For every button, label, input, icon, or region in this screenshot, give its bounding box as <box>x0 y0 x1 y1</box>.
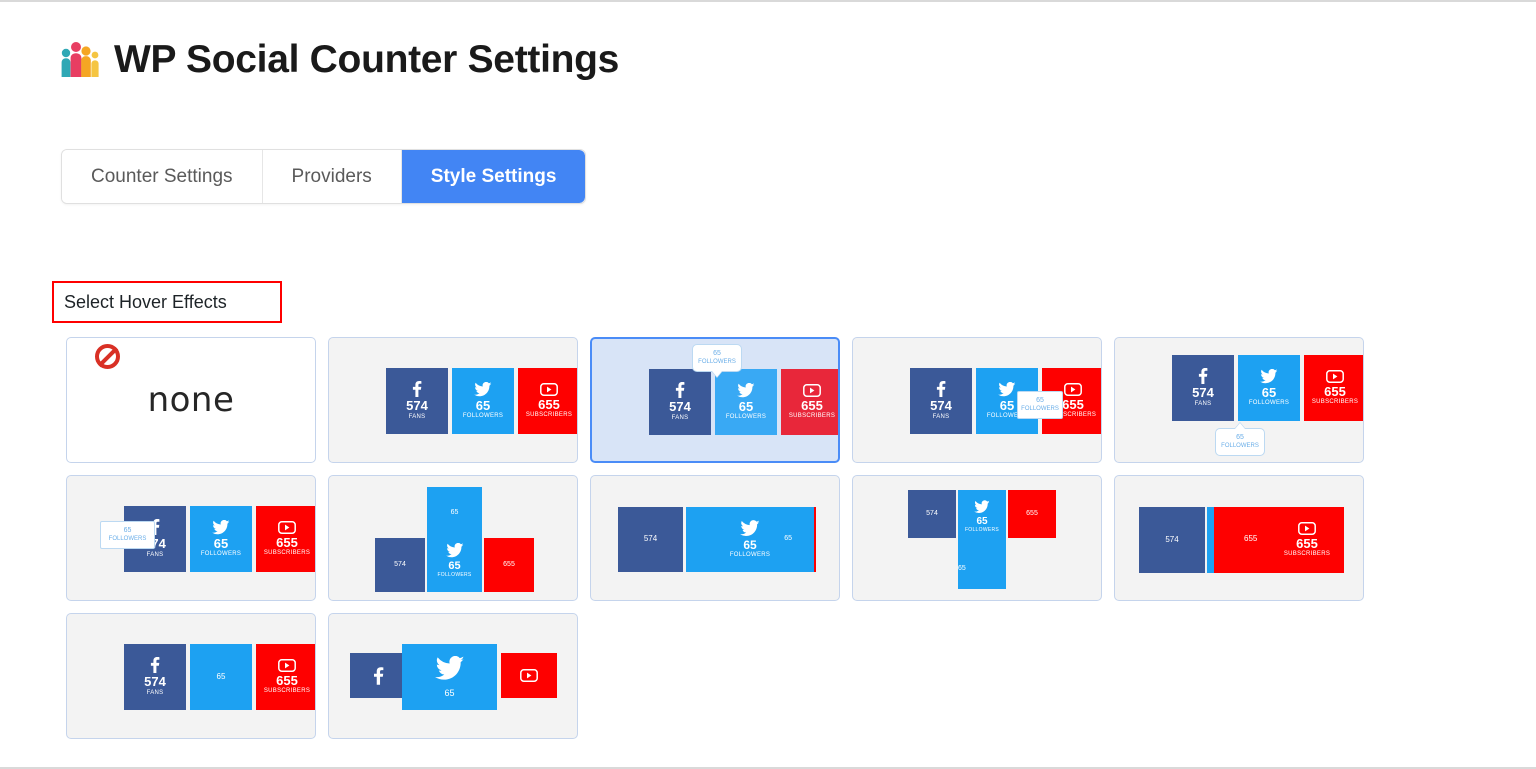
facebook-icon <box>150 657 160 673</box>
preview-stage: 574 FANS 65 FOLLOWERS 65 FOLLOWERS 655 S… <box>67 476 315 600</box>
twitter-count-bottom: 65 <box>958 565 1006 573</box>
preview-tile-twitter: 65 FOLLOWERS <box>190 506 252 572</box>
preview-stage: 574 FANS 65 655 SUBSCRIBERS <box>67 614 315 738</box>
effect-option-11[interactable]: 65 <box>328 613 578 739</box>
preview-tile-youtube: 655 SUBSCRIBERS <box>256 506 316 572</box>
preview-tile-youtube: 655 SUBSCRIBERS <box>518 368 578 434</box>
facebook-label: FANS <box>409 414 426 421</box>
facebook-icon <box>412 381 422 397</box>
tooltip-count: 65 <box>1021 396 1059 405</box>
preview-stage: 574 65 FOLLOWERS 65 655 <box>853 476 1101 600</box>
twitter-label: FOLLOWERS <box>201 551 241 558</box>
effect-option-3[interactable]: 574 FANS 65 FOLLOWERS 655 SUBSCRIBERS 65… <box>852 337 1102 463</box>
section-label: Select Hover Effects <box>64 292 227 313</box>
preview-stage: 574 65 FOLLOWERS 65 <box>591 476 839 600</box>
twitter-count: 65 <box>739 400 753 414</box>
select-hover-effects-highlight: Select Hover Effects <box>52 281 282 323</box>
twitter-icon <box>737 383 755 398</box>
twitter-count: 65 <box>1262 386 1276 400</box>
youtube-count: 655 <box>801 399 823 413</box>
youtube-label: SUBSCRIBERS <box>526 412 572 419</box>
effect-option-2[interactable]: 65 FOLLOWERS 574 FANS 65 FOLLOWERS <box>590 337 840 463</box>
youtube-count: 655 <box>1324 385 1346 399</box>
preview-tile-twitter: 65 FOLLOWERS <box>452 368 514 434</box>
twitter-count: 65 <box>976 516 987 527</box>
twitter-count-right: 65 <box>784 535 792 543</box>
tooltip-label: FOLLOWERS <box>1021 406 1059 412</box>
preview-tile-twitter: 65 65 FOLLOWERS <box>427 487 482 592</box>
effect-option-10[interactable]: 574 FANS 65 655 SUBSCRIBERS <box>66 613 316 739</box>
preview-tile-facebook: 574 FANS <box>910 368 972 434</box>
facebook-count: 574 <box>1165 536 1178 545</box>
facebook-label: FANS <box>147 690 164 697</box>
twitter-label: FOLLOWERS <box>437 572 471 578</box>
twitter-count: 65 <box>476 399 490 413</box>
twitter-count: 65 <box>743 539 756 552</box>
youtube-label: SUBSCRIBERS <box>264 550 310 557</box>
twitter-icon <box>446 543 464 558</box>
preview-tile-facebook: 574 FANS <box>1172 355 1234 421</box>
effect-option-9[interactable]: 574 655 655 SUBSCRIBERS <box>1114 475 1364 601</box>
tab-providers[interactable]: Providers <box>263 150 402 203</box>
preview-tile-youtube: 655 SUBSCRIBERS <box>781 369 840 435</box>
none-label: none <box>148 380 235 420</box>
preview-tile-youtube: 655 SUBSCRIBERS <box>256 644 316 710</box>
preview-tile-twitter: 65 FOLLOWERS <box>1238 355 1300 421</box>
twitter-label: FOLLOWERS <box>965 527 999 533</box>
hover-tooltip: 65 FOLLOWERS <box>100 521 155 549</box>
twitter-icon <box>212 520 230 535</box>
effect-option-4[interactable]: 574 FANS 65 FOLLOWERS 655 SUBSCRIBERS 65… <box>1114 337 1364 463</box>
preview-tile-youtube: 655 <box>484 538 534 592</box>
effect-option-none[interactable]: none <box>66 337 316 463</box>
tab-style-settings[interactable]: Style Settings <box>402 150 586 203</box>
preview-tile-facebook: 574 <box>618 507 683 572</box>
preview-stage: 574 655 655 SUBSCRIBERS <box>1115 476 1363 600</box>
preview-tile-twitter: 65 <box>190 644 252 710</box>
twitter-icon <box>998 382 1016 397</box>
facebook-count: 574 <box>1192 386 1214 400</box>
settings-tab-bar: Counter Settings Providers Style Setting… <box>61 149 586 204</box>
tab-counter-settings[interactable]: Counter Settings <box>62 150 263 203</box>
preview-stage: 574 FANS 65 FOLLOWERS 655 SUBSCRIBERS 65… <box>1115 338 1363 462</box>
preview-tile-facebook: 574 FANS <box>386 368 448 434</box>
preview-stage: 574 65 65 FOLLOWERS 655 <box>329 476 577 600</box>
effect-option-5[interactable]: 574 FANS 65 FOLLOWERS 65 FOLLOWERS 655 S… <box>66 475 316 601</box>
preview-stage: 574 FANS 65 FOLLOWERS 655 SUBSCRIBERS <box>329 338 577 462</box>
prohibition-icon <box>95 344 120 369</box>
preview-tile-youtube: 655 655 SUBSCRIBERS <box>1214 507 1344 573</box>
preview-tile-twitter: 65 <box>402 644 497 710</box>
facebook-label: FANS <box>1195 401 1212 408</box>
youtube-label: SUBSCRIBERS <box>264 688 310 695</box>
preview-tile-facebook: 574 <box>1139 507 1205 573</box>
twitter-icon <box>1260 369 1278 384</box>
twitter-label: FOLLOWERS <box>730 552 770 559</box>
facebook-icon <box>1198 368 1208 384</box>
twitter-count: 65 <box>444 689 454 699</box>
preview-stage: 574 FANS 65 FOLLOWERS 655 SUBSCRIBERS 65… <box>853 338 1101 462</box>
youtube-count: 655 <box>1062 398 1084 412</box>
facebook-count: 574 <box>394 561 406 569</box>
facebook-count: 574 <box>406 399 428 413</box>
twitter-count: 65 <box>448 560 460 572</box>
twitter-label: FOLLOWERS <box>726 414 766 421</box>
preview-tile-facebook: 574 FANS <box>649 369 711 435</box>
people-group-icon <box>60 41 100 79</box>
youtube-count-left: 655 <box>1244 535 1257 544</box>
youtube-count: 655 <box>1026 510 1038 518</box>
facebook-label: FANS <box>933 414 950 421</box>
facebook-count: 574 <box>644 535 657 544</box>
effect-option-1[interactable]: 574 FANS 65 FOLLOWERS 655 SUBSCRIBERS <box>328 337 578 463</box>
youtube-icon <box>1064 383 1082 396</box>
page-header: WP Social Counter Settings <box>60 40 619 79</box>
effect-option-7[interactable]: 574 65 FOLLOWERS 65 <box>590 475 840 601</box>
hover-tooltip: 65 FOLLOWERS <box>1215 428 1265 456</box>
preview-tile-facebook: 574 FANS <box>124 644 186 710</box>
youtube-count: 655 <box>503 561 515 569</box>
tooltip-count: 65 <box>1219 433 1261 442</box>
facebook-label: FANS <box>672 415 689 422</box>
preview-stage: 65 <box>329 614 577 738</box>
preview-tile-twitter: 65 FOLLOWERS <box>715 369 777 435</box>
youtube-count: 655 <box>276 674 298 688</box>
twitter-label: FOLLOWERS <box>463 413 503 420</box>
preview-tile-facebook <box>350 653 406 698</box>
facebook-count: 574 <box>144 675 166 689</box>
youtube-count: 655 <box>1296 537 1318 551</box>
preview-tile-twitter: 65 FOLLOWERS 65 <box>958 490 1006 589</box>
facebook-icon <box>675 382 685 398</box>
tooltip-label: FOLLOWERS <box>698 359 736 365</box>
twitter-count: 65 <box>217 673 226 682</box>
tooltip-label: FOLLOWERS <box>1221 443 1259 449</box>
youtube-icon <box>803 384 821 397</box>
youtube-icon <box>540 383 558 396</box>
hover-tooltip: 65 FOLLOWERS <box>1017 391 1063 419</box>
preview-tile-youtube <box>501 653 557 698</box>
effect-option-6[interactable]: 574 65 65 FOLLOWERS 655 <box>328 475 578 601</box>
preview-tile-youtube: 655 SUBSCRIBERS <box>1304 355 1364 421</box>
preview-tile-youtube: 655 <box>1008 490 1056 538</box>
youtube-label: SUBSCRIBERS <box>789 413 835 420</box>
youtube-icon <box>278 521 296 534</box>
none-graphic: none <box>67 338 315 462</box>
preview-tile-facebook: 574 <box>375 538 425 592</box>
facebook-count: 574 <box>669 400 691 414</box>
preview-tile-twitter: 65 FOLLOWERS 65 <box>686 507 814 572</box>
preview-stage: 65 FOLLOWERS 574 FANS 65 FOLLOWERS <box>592 339 838 461</box>
youtube-count: 655 <box>276 536 298 550</box>
twitter-count-top: 65 <box>451 509 459 517</box>
twitter-icon <box>435 656 465 681</box>
youtube-count: 655 <box>538 398 560 412</box>
twitter-icon <box>474 382 492 397</box>
facebook-icon <box>373 667 384 685</box>
twitter-icon <box>974 500 990 514</box>
facebook-icon <box>936 381 946 397</box>
hover-tooltip: 65 FOLLOWERS <box>692 344 742 372</box>
youtube-label: SUBSCRIBERS <box>1284 551 1330 558</box>
tooltip-count: 65 <box>104 526 151 535</box>
tooltip-label: FOLLOWERS <box>109 536 147 542</box>
page-title: WP Social Counter Settings <box>114 40 619 79</box>
youtube-label: SUBSCRIBERS <box>1312 399 1358 406</box>
youtube-icon <box>1326 370 1344 383</box>
facebook-count: 574 <box>926 510 938 518</box>
facebook-label: FANS <box>147 552 164 559</box>
youtube-icon <box>1298 522 1316 535</box>
twitter-count: 65 <box>1000 399 1014 413</box>
preview-tile-twitter <box>1207 507 1214 573</box>
youtube-icon <box>520 669 538 682</box>
twitter-icon <box>740 520 760 537</box>
preview-tile-facebook: 574 <box>908 490 956 538</box>
twitter-count: 65 <box>214 537 228 551</box>
hover-effects-grid: none 574 FANS 65 FOLLOWERS <box>66 337 1364 739</box>
facebook-count: 574 <box>930 399 952 413</box>
twitter-label: FOLLOWERS <box>1249 400 1289 407</box>
effect-option-8[interactable]: 574 65 FOLLOWERS 65 655 <box>852 475 1102 601</box>
tooltip-count: 65 <box>696 349 738 358</box>
youtube-icon <box>278 659 296 672</box>
